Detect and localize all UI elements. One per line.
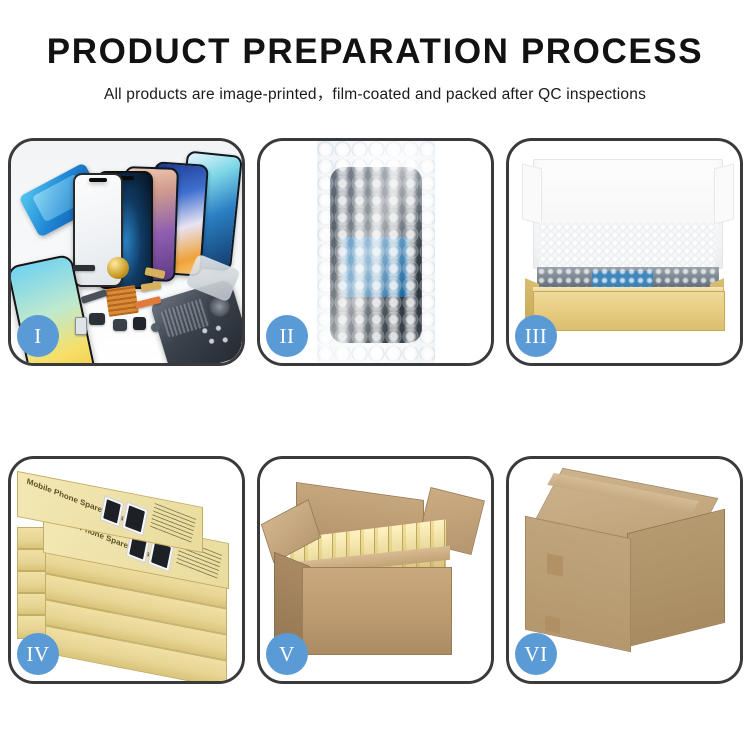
step-badge-5: V [266,633,308,675]
notch-icon [89,178,107,182]
step-panel-2[interactable]: II [257,138,494,366]
carton-front-icon [302,567,452,655]
step-panel-5[interactable]: V [257,456,494,684]
screws-icon [198,323,232,349]
spare-part-icon [73,265,95,271]
carton-front-icon [525,516,631,653]
spare-part-icon [133,317,146,330]
carton-label-icon [547,553,563,576]
page-subtitle: All products are image-printed，film-coat… [0,82,750,104]
product-preparation-infographic: PRODUCT PREPARATION PROCESS All products… [0,0,750,750]
step-badge-2: II [266,315,308,357]
step-badge-1: I [17,315,59,357]
foam-padding-icon [539,223,715,271]
spare-part-icon [151,323,160,332]
header: PRODUCT PREPARATION PROCESS All products… [0,0,750,104]
chip-array-icon [105,285,139,317]
spare-part-icon [75,317,87,335]
page-title: PRODUCT PREPARATION PROCESS [0,34,750,69]
step-panel-1[interactable]: I [8,138,245,366]
coil-part-icon [107,257,129,279]
spare-part-icon [113,319,127,331]
step-badge-4: IV [17,633,59,675]
yellow-box-front-icon [533,291,725,331]
step-badge-3: III [515,315,557,357]
spare-part-icon [81,289,108,304]
step-panel-4[interactable]: Mobile Phone Spare Parts Mobile Phone Sp… [8,456,245,684]
carton-side-icon [627,509,725,647]
step-panel-3[interactable]: III [506,138,743,366]
carton-label-icon [545,615,560,633]
step-panel-6[interactable]: VI [506,456,743,684]
steps-grid: I II III [8,138,742,684]
flex-cable-icon [141,282,162,292]
step-badge-6: VI [515,633,557,675]
spare-part-icon [89,313,105,325]
